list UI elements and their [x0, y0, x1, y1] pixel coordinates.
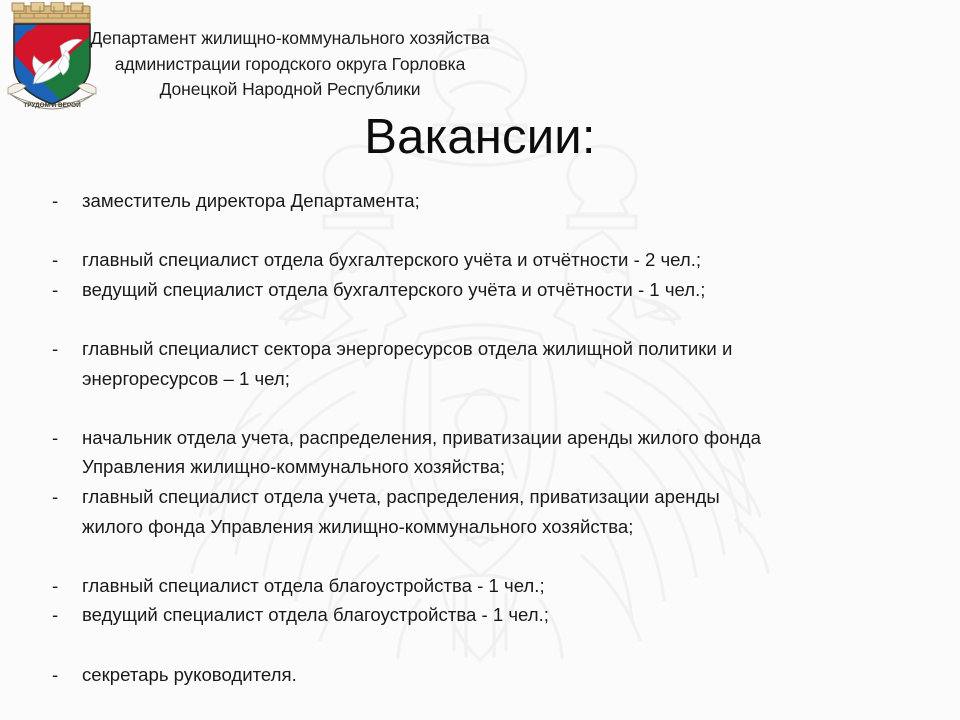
- organization-title: Департамент жилищно-коммунального хозяйс…: [84, 26, 496, 103]
- vacancy-item-label: главный специалист сектора энергоресурсо…: [82, 334, 930, 393]
- page-title: Вакансии:: [0, 108, 960, 166]
- bullet-dash: -: [52, 334, 74, 364]
- list-gap: [50, 304, 930, 334]
- slide-header: ТРУДОМ И ВЕРОЙ Департамент жилищно-комму…: [0, 0, 960, 118]
- vacancy-item: -главный специалист отдела благоустройст…: [50, 571, 930, 601]
- vacancy-item-label: главный специалист отдела учета, распред…: [82, 482, 930, 541]
- bullet-dash: -: [52, 275, 74, 305]
- vacancy-list: -заместитель директора Департамента;-гла…: [50, 186, 930, 689]
- vacancy-item: -главный специалист отдела бухгалтерског…: [50, 245, 930, 275]
- list-gap: [50, 541, 930, 571]
- slide-canvas: ТРУДОМ И ВЕРОЙ Департамент жилищно-комму…: [0, 0, 960, 720]
- list-gap: [50, 216, 930, 246]
- vacancy-item: -ведущий специалист отдела благоустройст…: [50, 600, 930, 630]
- vacancy-item-label: начальник отдела учета, распределения, п…: [82, 423, 930, 482]
- vacancy-item: -заместитель директора Департамента;: [50, 186, 930, 216]
- bullet-dash: -: [52, 571, 74, 601]
- bullet-dash: -: [52, 186, 74, 216]
- vacancy-item: -главный специалист сектора энергоресурс…: [50, 334, 930, 393]
- list-gap: [50, 630, 930, 660]
- bullet-dash: -: [52, 660, 74, 690]
- vacancy-item-label: ведущий специалист отдела благоустройств…: [82, 600, 930, 630]
- organization-title-line-2: администрации городского округа Горловка: [84, 52, 496, 78]
- vacancy-item: -ведущий специалист отдела бухгалтерског…: [50, 275, 930, 305]
- vacancy-item-label: заместитель директора Департамента;: [82, 186, 930, 216]
- bullet-dash: -: [52, 600, 74, 630]
- list-gap: [50, 393, 930, 423]
- vacancy-item: -секретарь руководителя.: [50, 660, 930, 690]
- vacancy-item-label: ведущий специалист отдела бухгалтерского…: [82, 275, 930, 305]
- organization-title-line-1: Департамент жилищно-коммунального хозяйс…: [84, 26, 496, 52]
- vacancy-item-label: главный специалист отдела благоустройств…: [82, 571, 930, 601]
- bullet-dash: -: [52, 423, 74, 453]
- bullet-dash: -: [52, 245, 74, 275]
- vacancy-item-label: главный специалист отдела бухгалтерского…: [82, 245, 930, 275]
- bullet-dash: -: [52, 482, 74, 512]
- vacancy-item: -начальник отдела учета, распределения, …: [50, 423, 930, 482]
- vacancy-item-label: секретарь руководителя.: [82, 660, 930, 690]
- organization-title-line-3: Донецкой Народной Республики: [84, 77, 496, 103]
- vacancy-item: -главный специалист отдела учета, распре…: [50, 482, 930, 541]
